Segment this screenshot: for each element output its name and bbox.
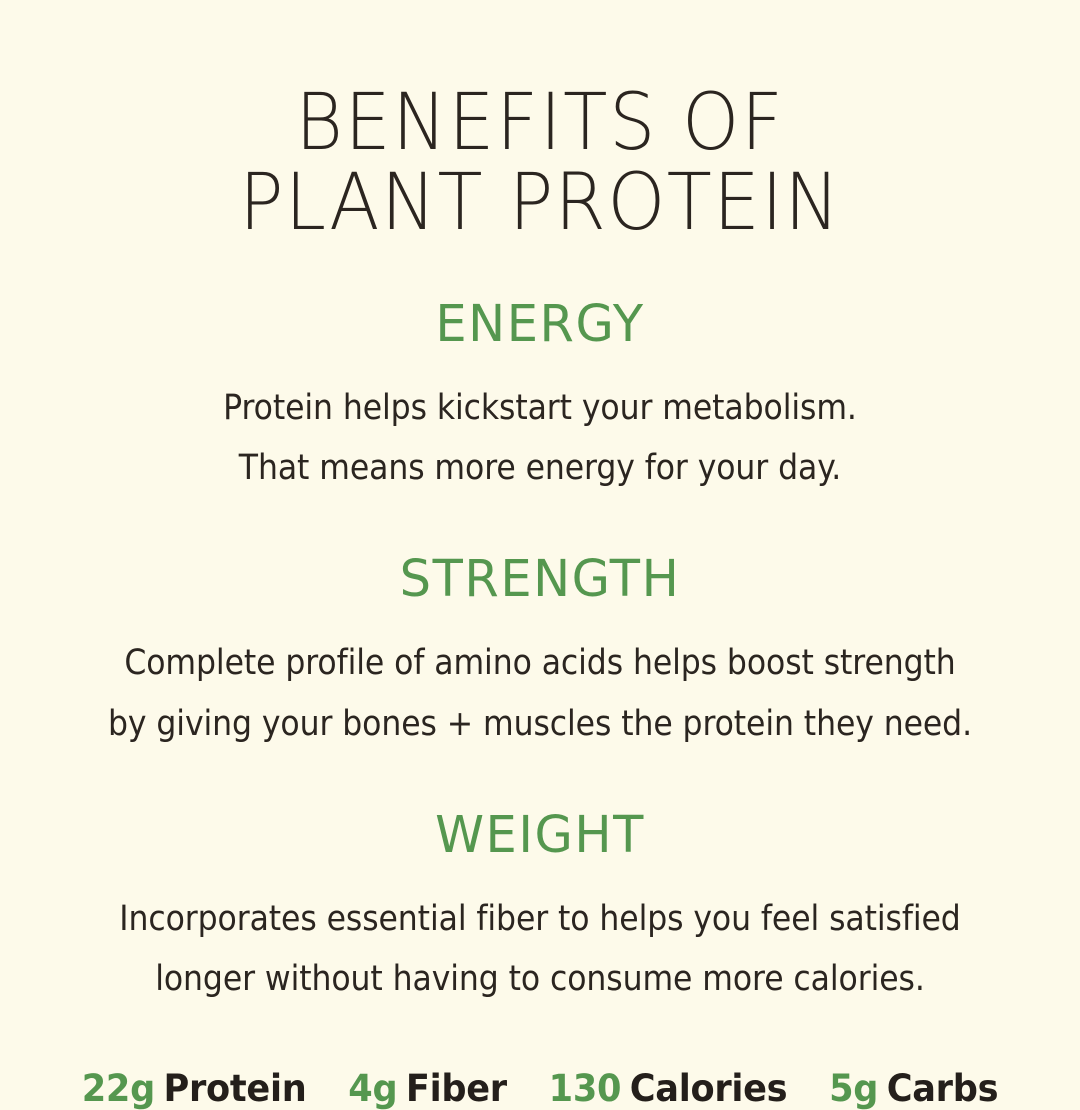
section-body-line: Incorporates essential fiber to helps yo… bbox=[54, 889, 1026, 949]
nutrition-label: Fiber bbox=[406, 1067, 507, 1110]
nutrition-value: 130 bbox=[549, 1067, 622, 1110]
nutrition-item-protein: 22gProtein bbox=[82, 1069, 307, 1110]
section-body-strength: Complete profile of amino acids helps bo… bbox=[54, 633, 1026, 753]
section-body-weight: Incorporates essential fiber to helps yo… bbox=[54, 889, 1026, 1009]
section-body-line: Complete profile of amino acids helps bo… bbox=[54, 633, 1026, 693]
nutrition-facts-row: 22gProtein 4gFiber 130Calories 5gCarbs bbox=[27, 1069, 1053, 1110]
nutrition-label: Protein bbox=[164, 1067, 307, 1110]
section-body-line: longer without having to consume more ca… bbox=[54, 949, 1026, 1009]
benefit-section-weight: WEIGHT Incorporates essential fiber to h… bbox=[0, 810, 1080, 1009]
benefit-section-energy: ENERGY Protein helps kickstart your meta… bbox=[0, 299, 1080, 498]
section-body-energy: Protein helps kickstart your metabolism.… bbox=[54, 378, 1026, 498]
title-line-2: PLANT PROTEIN bbox=[30, 164, 1051, 244]
nutrition-label: Carbs bbox=[887, 1067, 999, 1110]
nutrition-value: 5g bbox=[829, 1067, 878, 1110]
nutrition-label: Calories bbox=[630, 1067, 788, 1110]
section-body-line: That means more energy for your day. bbox=[54, 438, 1026, 498]
benefit-sections: ENERGY Protein helps kickstart your meta… bbox=[0, 299, 1080, 1009]
page-title: BENEFITS OF PLANT PROTEIN bbox=[0, 84, 1080, 243]
title-line-1: BENEFITS OF bbox=[38, 84, 1042, 164]
nutrition-value: 4g bbox=[348, 1067, 397, 1110]
poster-root: BENEFITS OF PLANT PROTEIN ENERGY Protein… bbox=[0, 0, 1080, 1080]
nutrition-item-fiber: 4gFiber bbox=[348, 1069, 507, 1110]
section-heading-strength: STRENGTH bbox=[16, 554, 1064, 605]
benefit-section-strength: STRENGTH Complete profile of amino acids… bbox=[0, 554, 1080, 753]
nutrition-item-carbs: 5gCarbs bbox=[829, 1069, 998, 1110]
section-heading-energy: ENERGY bbox=[16, 299, 1064, 350]
section-heading-weight: WEIGHT bbox=[16, 810, 1064, 861]
section-body-line: Protein helps kickstart your metabolism. bbox=[54, 378, 1026, 438]
nutrition-item-calories: 130Calories bbox=[549, 1069, 788, 1110]
section-body-line: by giving your bones + muscles the prote… bbox=[54, 694, 1026, 754]
nutrition-value: 22g bbox=[82, 1067, 155, 1110]
